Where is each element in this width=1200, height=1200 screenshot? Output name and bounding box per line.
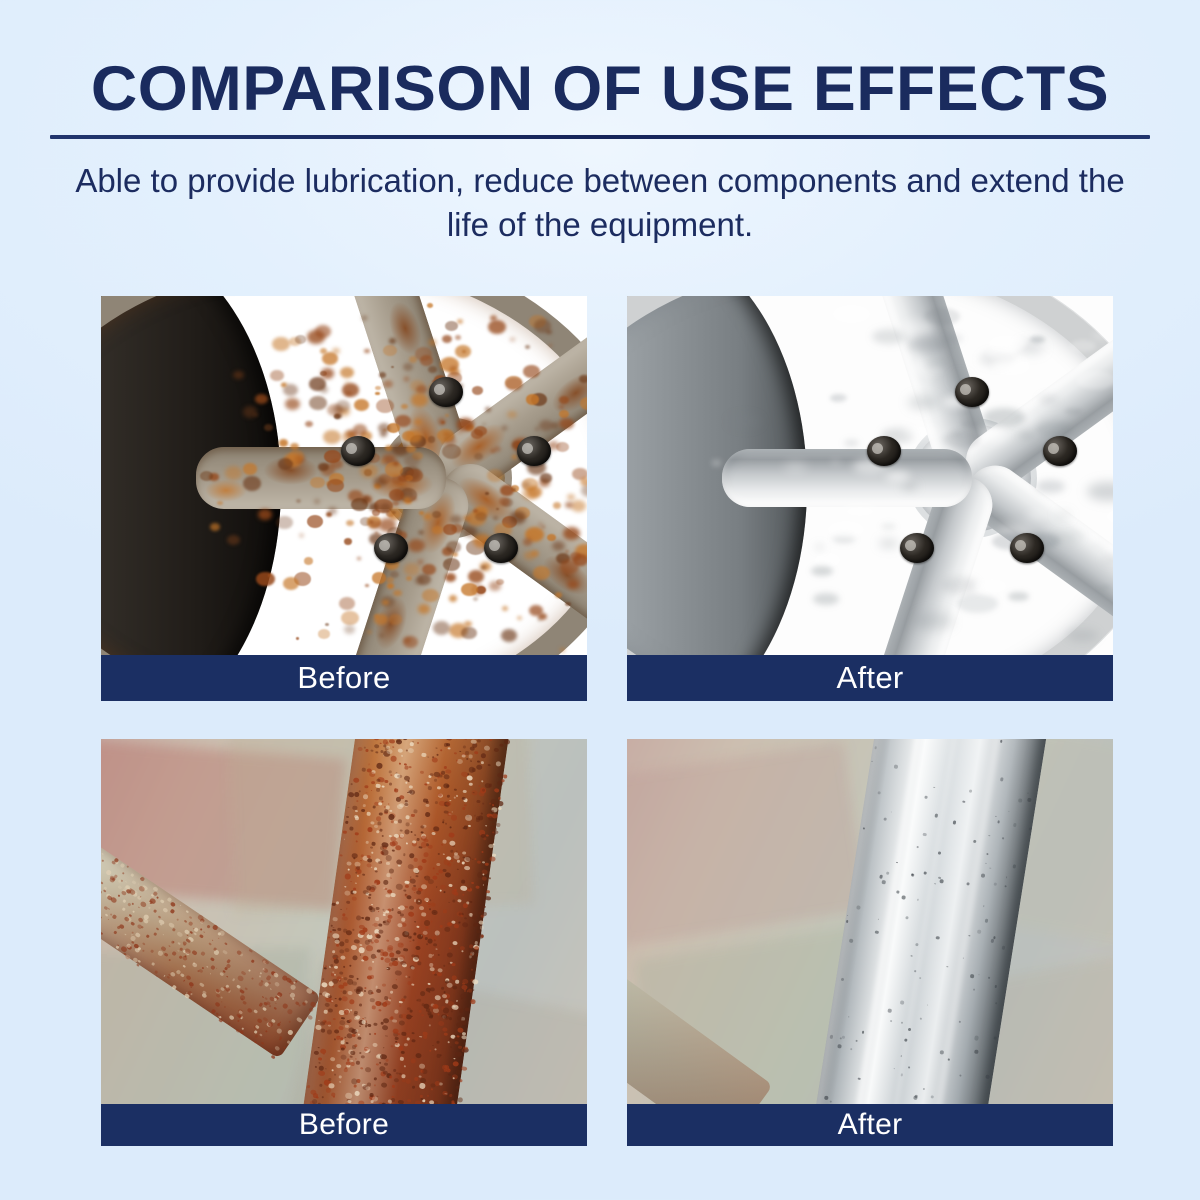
rust-speck: [199, 982, 205, 987]
rust-speck: [251, 977, 254, 979]
photo-rusty-pipe: [101, 739, 587, 1104]
rust-speck: [483, 745, 490, 751]
rust-speck: [369, 894, 372, 896]
rust-speck: [499, 744, 503, 748]
rust-speck: [427, 756, 429, 758]
rust-speck: [325, 1003, 330, 1008]
rust-speck: [405, 815, 410, 819]
rust-speck: [419, 1083, 426, 1089]
rust-speck: [287, 1029, 294, 1035]
pipe-pit: [970, 974, 974, 978]
rust-speck: [346, 1042, 349, 1044]
rust-speck: [242, 1028, 244, 1030]
rust-speck: [312, 1093, 318, 1098]
rust-speck: [469, 782, 473, 786]
rust-speck: [356, 875, 359, 878]
rust-speck: [485, 783, 491, 789]
rust-speck: [367, 966, 372, 971]
header: COMPARISON OF USE EFFECTS Able to provid…: [0, 0, 1200, 246]
rust-speck: [399, 905, 406, 911]
rust-speck: [322, 978, 325, 980]
lug-nut: [955, 377, 989, 407]
rust-speck: [355, 1058, 357, 1060]
rust-speck: [357, 1036, 361, 1040]
rust-speck: [408, 766, 411, 769]
rust-speck: [450, 860, 453, 862]
rust-speck: [471, 882, 474, 884]
pipe-pit: [911, 873, 915, 877]
rust-speck: [350, 1062, 355, 1066]
pipe-pit: [874, 746, 877, 749]
rust-speck: [361, 1055, 365, 1059]
rust-speck: [350, 945, 357, 951]
rust-speck: [476, 885, 480, 888]
rust-speck: [342, 996, 348, 1001]
pipe-pit: [1028, 798, 1032, 802]
rust-speck: [342, 990, 347, 994]
rust-speck: [142, 942, 145, 945]
rust-speck: [411, 1039, 415, 1042]
rust-speck: [269, 988, 271, 990]
rust-speck: [339, 1081, 341, 1083]
rust-speck: [124, 933, 127, 936]
rust-speck: [412, 983, 414, 985]
rust-speck: [391, 893, 396, 897]
rust-speck: [404, 802, 408, 806]
rust-speck: [454, 889, 457, 892]
rust-speck: [417, 742, 419, 744]
rust-speck: [446, 982, 453, 988]
rust-speck: [398, 865, 400, 867]
pipe-pit: [878, 919, 879, 920]
pipe-pit: [842, 1036, 845, 1039]
rust-speck: [401, 917, 406, 922]
rust-speck: [371, 781, 375, 785]
rust-speck: [332, 933, 339, 939]
rust-speck: [457, 1035, 460, 1038]
rust-speck: [101, 881, 104, 885]
rust-speck: [414, 921, 416, 923]
pipe-pit: [936, 936, 940, 940]
rust-speck: [359, 944, 362, 946]
rust-speck: [354, 1011, 358, 1015]
rust-speck: [409, 905, 415, 910]
rust-speck: [362, 804, 366, 807]
rust-speck: [392, 746, 394, 748]
pipe-pit: [952, 820, 956, 824]
rust-speck: [376, 763, 383, 769]
rust-speck: [389, 782, 393, 785]
rust-speck: [237, 1019, 240, 1022]
rust-speck: [462, 861, 465, 864]
rust-speck: [402, 1032, 407, 1036]
pipe-pit: [922, 832, 926, 836]
rust-speck: [409, 742, 414, 746]
comparison-row-wheel: Before After: [101, 296, 1113, 701]
rust-speck: [397, 1033, 400, 1036]
rust-speck: [432, 757, 438, 763]
rust-speck: [470, 761, 472, 763]
rust-speck: [352, 853, 358, 858]
rust-speck: [374, 938, 380, 943]
rust-speck: [164, 953, 168, 957]
rust-speck: [414, 955, 420, 960]
rust-speck: [394, 788, 398, 792]
rust-speck: [455, 980, 459, 984]
rust-speck: [468, 968, 470, 970]
rust-speck: [449, 826, 452, 828]
rust-speck: [389, 739, 396, 744]
rust-speck: [428, 786, 432, 790]
pipe-pit: [1004, 885, 1006, 887]
rust-speck: [403, 948, 408, 952]
rust-speck: [206, 924, 211, 928]
rust-speck: [104, 906, 109, 911]
rust-speck: [444, 927, 450, 933]
rust-speck: [373, 805, 377, 808]
rust-speck: [339, 1026, 345, 1031]
pipe-pit: [888, 1009, 892, 1013]
rust-speck: [376, 988, 382, 993]
rust-speck: [381, 835, 383, 837]
rust-speck: [376, 1063, 379, 1066]
rust-speck: [113, 930, 117, 934]
rust-speck: [504, 739, 510, 744]
rust-speck: [423, 1003, 430, 1009]
rust-speck: [373, 922, 379, 927]
rust-speck: [382, 1070, 387, 1075]
pipe-pit: [920, 1017, 922, 1019]
rust-speck: [446, 795, 450, 799]
rust-speck: [192, 950, 197, 955]
rust-speck: [153, 932, 158, 936]
rust-speck: [342, 916, 348, 921]
rust-speck: [395, 1037, 399, 1040]
rust-speck: [466, 758, 469, 760]
rust-speck: [442, 1028, 447, 1032]
rust-speck: [454, 788, 456, 790]
pipe-pit: [880, 875, 884, 879]
rust-speck: [349, 999, 355, 1004]
rust-speck: [360, 1067, 363, 1069]
rust-speck: [481, 780, 484, 782]
pipe-pit: [974, 1036, 979, 1041]
rust-speck: [371, 842, 375, 846]
rust-speck: [367, 989, 373, 994]
rust-speck: [456, 795, 458, 796]
rust-speck: [264, 982, 269, 987]
label-after-wheel: After: [627, 655, 1113, 701]
rust-speck: [462, 982, 465, 985]
rust-speck: [359, 1004, 362, 1007]
rust-speck: [137, 923, 143, 929]
rust-speck: [503, 774, 508, 778]
rust-speck: [451, 811, 453, 812]
rust-speck: [378, 860, 383, 864]
pipe-pit: [908, 1067, 910, 1069]
rust-speck: [319, 1084, 322, 1087]
rust-speck: [296, 1017, 303, 1024]
rust-speck: [469, 755, 473, 759]
rust-speck: [319, 1062, 321, 1064]
rust-speck: [333, 1018, 336, 1021]
rust-speck: [388, 814, 395, 820]
rust-speck: [395, 1042, 398, 1045]
rust-speck: [408, 935, 412, 939]
rust-speck: [479, 805, 481, 807]
pipe-pit: [1000, 777, 1004, 781]
rust-speck: [390, 877, 392, 879]
rust-speck: [244, 987, 248, 991]
rust-speck: [232, 978, 236, 981]
rust-speck: [407, 863, 414, 869]
rust-speck: [431, 921, 433, 923]
rust-speck: [398, 943, 404, 948]
rust-speck: [253, 1029, 258, 1034]
rust-speck: [265, 975, 271, 981]
pipe-pit: [934, 883, 936, 885]
rust-speck: [420, 1036, 422, 1038]
rust-speck: [341, 1047, 345, 1050]
rust-speck: [453, 796, 456, 799]
rust-speck: [406, 1037, 409, 1040]
rust-speck: [214, 1001, 220, 1007]
rust-speck: [104, 913, 108, 917]
rust-speck: [484, 862, 488, 866]
pipe-pit: [993, 936, 995, 938]
rust-speck: [406, 843, 409, 845]
rust-speck: [451, 1011, 453, 1012]
pipe-pit: [890, 1020, 892, 1022]
rust-speck: [295, 980, 299, 983]
rust-speck: [383, 914, 385, 916]
rust-speck: [403, 889, 406, 892]
rust-speck: [437, 1041, 441, 1044]
rust-speck: [443, 910, 447, 914]
rust-speck: [457, 869, 459, 871]
rust-speck: [436, 886, 438, 888]
pipe-pit: [839, 1037, 841, 1039]
rust-speck: [346, 900, 350, 904]
rust-speck: [396, 859, 403, 865]
rust-speck: [437, 1014, 439, 1016]
rust-speck: [228, 1022, 231, 1024]
rust-speck: [452, 985, 458, 990]
rust-speck: [465, 815, 472, 821]
rust-speck: [355, 833, 359, 836]
rust-speck: [423, 852, 429, 858]
rust-speck: [454, 1058, 456, 1060]
rust-speck: [371, 1005, 376, 1010]
rust-speck: [392, 1085, 395, 1088]
pipe-pit: [1006, 876, 1008, 878]
rust-speck: [443, 783, 449, 789]
rust-speck: [365, 749, 369, 752]
rust-speck: [449, 800, 451, 802]
rust-speck: [340, 908, 342, 910]
rust-speck: [404, 1066, 406, 1068]
rust-speck: [137, 960, 140, 963]
rust-speck: [402, 923, 407, 928]
rust-speck: [373, 739, 379, 740]
rust-speck: [455, 1051, 462, 1057]
rust-speck: [101, 916, 102, 918]
title-divider: [50, 135, 1150, 139]
rust-speck: [389, 810, 392, 813]
rust-speck: [284, 1046, 286, 1048]
rust-speck: [415, 899, 422, 905]
rust-speck: [448, 832, 454, 838]
wheel-spoke: [196, 447, 446, 509]
rust-speck: [457, 1015, 463, 1020]
rust-speck: [436, 862, 440, 865]
rust-speck: [392, 849, 395, 851]
rust-speck: [399, 955, 406, 961]
rust-speck: [346, 908, 348, 910]
rust-speck: [198, 969, 202, 973]
rust-speck: [200, 951, 206, 956]
rust-speck: [409, 823, 412, 825]
rust-speck: [434, 930, 440, 935]
rust-speck: [415, 834, 417, 835]
pipe-pit: [1002, 837, 1004, 839]
rust-speck: [434, 1048, 436, 1050]
rust-speck: [176, 931, 183, 938]
rust-speck: [426, 801, 429, 804]
rust-speck: [183, 980, 185, 982]
rust-speck: [291, 997, 294, 1000]
rust-speck: [485, 834, 488, 837]
pipe-pit: [925, 796, 928, 799]
rust-speck: [370, 846, 373, 849]
rust-speck: [172, 927, 177, 932]
rust-speck: [169, 901, 176, 907]
panel-wheel-after: After: [627, 296, 1113, 701]
rust-speck: [380, 1054, 387, 1060]
pipe-pit: [984, 919, 988, 923]
rust-speck: [366, 945, 373, 951]
rust-speck: [130, 922, 135, 927]
rust-speck: [471, 969, 473, 971]
rust-speck: [425, 926, 428, 929]
rust-speck: [442, 839, 447, 843]
rust-speck: [116, 946, 119, 949]
rust-speck: [182, 964, 186, 968]
pipe-pit: [979, 974, 980, 975]
rust-speck: [397, 923, 402, 928]
rust-speck: [461, 879, 466, 883]
rust-speck: [456, 1000, 458, 1001]
rust-speck: [448, 947, 452, 950]
rust-speck: [446, 952, 453, 958]
rust-speck: [383, 920, 390, 926]
rust-speck: [428, 983, 431, 986]
rust-speck: [380, 829, 383, 832]
rust-speck: [320, 1021, 326, 1026]
rust-speck: [125, 881, 127, 883]
rust-speck: [450, 850, 454, 854]
rust-speck: [467, 776, 474, 782]
pipe-pit: [875, 930, 879, 934]
rust-speck: [364, 990, 367, 992]
rust-speck: [117, 895, 120, 897]
rust-speck: [497, 780, 503, 786]
rust-speck: [437, 954, 440, 956]
rust-speck: [439, 800, 446, 806]
rust-speck: [390, 1045, 393, 1048]
rust-speck: [493, 788, 499, 793]
rust-speck: [431, 1088, 433, 1090]
rust-speck: [414, 892, 416, 893]
rust-speck: [434, 779, 437, 782]
rust-speck: [463, 825, 468, 830]
pipe-pit: [981, 873, 985, 877]
rust-speck: [332, 950, 335, 953]
rust-speck: [399, 763, 402, 765]
pipe-pit: [824, 1096, 828, 1100]
pipe-pit: [924, 871, 927, 874]
rust-speck: [436, 753, 439, 755]
rust-speck: [315, 1066, 318, 1069]
rust-speck: [369, 975, 374, 980]
rust-speck: [376, 816, 382, 822]
rust-speck: [286, 1008, 293, 1015]
rust-speck: [423, 1032, 428, 1036]
rust-speck: [171, 951, 177, 957]
rust-speck: [224, 942, 227, 945]
rust-speck: [318, 1057, 322, 1061]
rust-speck: [470, 901, 473, 904]
rust-speck: [441, 1014, 447, 1019]
rust-speck: [364, 1017, 366, 1019]
rust-speck: [407, 1099, 411, 1103]
rust-speck: [375, 788, 380, 792]
pipe-pit: [919, 977, 922, 980]
rust-speck: [437, 1054, 441, 1058]
rust-speck: [404, 829, 410, 834]
rust-speck: [163, 975, 165, 977]
rust-speck: [373, 743, 379, 748]
rust-speck: [395, 845, 402, 851]
rust-speck: [107, 919, 109, 921]
rust-speck: [200, 928, 203, 931]
rust-speck: [241, 970, 247, 976]
rust-speck: [345, 821, 348, 824]
pipe-pit: [862, 828, 864, 830]
rust-speck: [406, 822, 411, 826]
rust-speck: [469, 944, 474, 948]
rust-speck: [350, 1009, 352, 1011]
rust-speck: [347, 991, 352, 996]
rust-speck: [179, 905, 181, 907]
rust-speck: [422, 1069, 428, 1074]
rust-speck: [482, 912, 487, 916]
rust-speck: [421, 858, 427, 863]
rust-speck: [388, 869, 394, 874]
rusty-wheel-illustration: [101, 296, 587, 655]
rust-speck: [396, 739, 402, 745]
rust-speck: [478, 791, 485, 797]
photo-rusty-wheel: [101, 296, 587, 655]
pipe-pit: [969, 789, 972, 792]
rust-speck: [222, 949, 228, 955]
rust-speck: [352, 1033, 357, 1037]
rust-speck: [350, 783, 352, 785]
rust-speck: [415, 875, 418, 878]
pipe-pit: [901, 1022, 904, 1025]
rust-speck: [343, 929, 347, 933]
rust-speck: [390, 756, 397, 762]
